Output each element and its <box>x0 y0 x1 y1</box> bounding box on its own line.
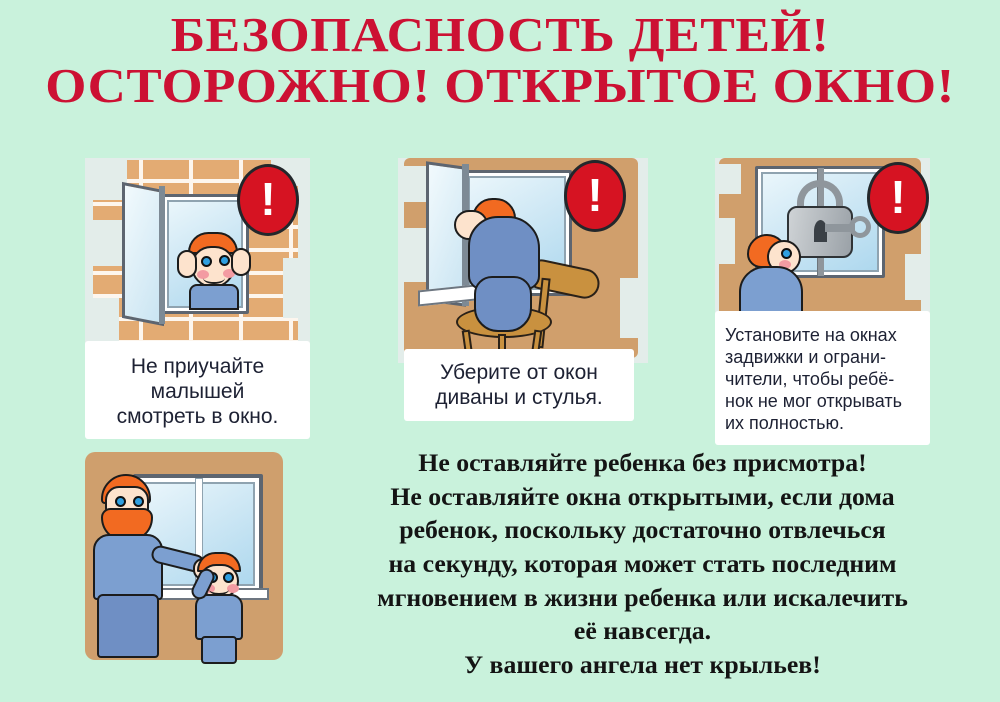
child-eye-left <box>201 256 212 267</box>
wall-edge-notch <box>398 228 426 282</box>
child-eye-right <box>223 572 234 583</box>
page-title: БЕЗОПАСНОСТЬ ДЕТЕЙ! ОСТОРОЖНО! ОТКРЫТОЕ … <box>0 10 1000 112</box>
child-legs <box>474 276 532 332</box>
panel-3-caption-line-5: их полностью. <box>725 413 926 435</box>
panel-1-caption: Не приучайте малышей смотреть в окно. <box>85 341 310 439</box>
message-line-6: её навсегда. <box>281 614 1000 648</box>
title-line-2: ОСТОРОЖНО! ОТКРЫТОЕ ОКНО! <box>0 61 1000 112</box>
warning-exclamation-icon: ! <box>564 160 626 232</box>
father-shirt <box>93 534 163 600</box>
father-eye-left <box>115 496 126 507</box>
warning-symbol: ! <box>260 176 275 222</box>
panel-3-caption-line-3: чители, чтобы ребё- <box>725 369 926 391</box>
child-hand-left <box>177 250 197 278</box>
father-eye-right <box>133 496 144 507</box>
warning-symbol: ! <box>890 174 905 220</box>
safety-panel-2: ! Уберите от окон диваны и стулья. <box>398 158 648 421</box>
window-mullion <box>159 186 165 324</box>
message-line-5: мгновением в жизни ребенка или искалечит… <box>281 581 1000 615</box>
title-line-1: БЕЗОПАСНОСТЬ ДЕТЕЙ! <box>0 10 1000 61</box>
message-line-1: Не оставляйте ребенка без присмотра! <box>281 446 1000 480</box>
panel-3-caption-line-1: Установите на окнах <box>725 325 926 347</box>
panel-1-caption-line-2: малышей <box>89 380 306 405</box>
key-ring <box>849 216 871 238</box>
child-mouth <box>203 272 225 284</box>
child-eye <box>781 248 792 259</box>
warning-exclamation-icon: ! <box>237 164 299 236</box>
panel-1-caption-line-3: смотреть в окно. <box>89 405 306 430</box>
message-line-2: Не оставляйте окна открытыми, если дома <box>281 480 1000 514</box>
wall-edge-notch <box>905 254 925 300</box>
child-shirt <box>189 284 239 310</box>
panel-2-illustration: ! <box>398 158 648 363</box>
safety-panel-1: ! Не приучайте малышей смотреть в окно. <box>85 158 310 439</box>
father-trousers <box>97 594 159 658</box>
child-legs <box>201 636 237 664</box>
panel-3-caption: Установите на окнах задвижки и ограни- ч… <box>715 311 930 445</box>
child-hand-right <box>231 248 251 276</box>
open-window-sash <box>122 182 164 326</box>
child-eye-right <box>219 255 230 266</box>
panel-2-caption-line-1: Уберите от окон <box>408 361 630 386</box>
warning-symbol: ! <box>587 172 602 218</box>
panel-3-caption-line-2: задвижки и ограни- <box>725 347 926 369</box>
message-line-7: У вашего ангела нет крыльев! <box>281 648 1000 682</box>
wall-edge-notch <box>620 278 644 338</box>
wall-edge-notch <box>715 164 741 194</box>
warning-exclamation-icon: ! <box>867 162 929 234</box>
family-at-window-illustration <box>85 452 290 667</box>
wall-edge-notch <box>715 218 735 264</box>
wall-edge-notch <box>283 258 303 318</box>
message-line-4: на секунду, которая может стать последни… <box>281 547 1000 581</box>
panel-1-illustration: ! <box>85 158 310 363</box>
safety-message-block: Не оставляйте ребенка без присмотра! Не … <box>285 446 1000 682</box>
panel-1-caption-line-1: Не приучайте <box>89 355 306 380</box>
child-shirt <box>195 594 243 640</box>
message-line-3: ребенок, поскольку достаточно отвлечься <box>281 513 1000 547</box>
panel-2-caption-line-2: диваны и стулья. <box>408 386 630 411</box>
panel-2-caption: Уберите от окон диваны и стулья. <box>404 349 634 421</box>
poster-root: БЕЗОПАСНОСТЬ ДЕТЕЙ! ОСТОРОЖНО! ОТКРЫТОЕ … <box>0 0 1000 702</box>
safety-panel-3: ! Установите на окнах задвижки и ограни-… <box>715 158 930 445</box>
panel-3-caption-line-4: нок не мог открывать <box>725 391 926 413</box>
